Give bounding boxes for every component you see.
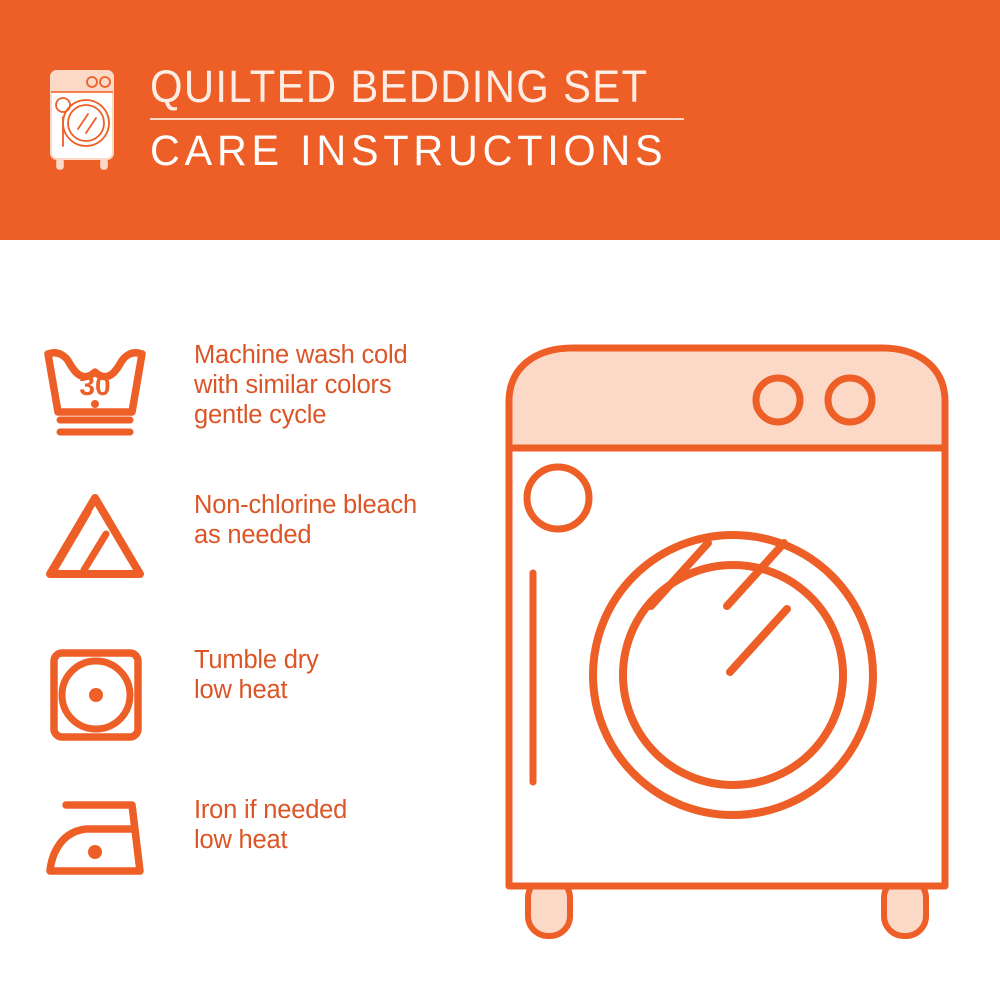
control-panel [513, 352, 942, 449]
washing-machine-illustration [495, 330, 965, 940]
page-subtitle: CARE INSTRUCTIONS [150, 127, 667, 175]
header-title-group: QUILTED BEDDING SET CARE INSTRUCTIONS [150, 62, 689, 175]
care-symbol-bleach [40, 490, 180, 585]
tumble-dry-icon [40, 645, 150, 745]
care-row-machine-wash: 30 Machine wash cold with similar colors… [40, 340, 480, 440]
care-text-machine-wash: Machine wash cold with similar colors ge… [194, 340, 407, 430]
care-row-iron: Iron if needed low heat [40, 795, 480, 881]
iron-dot [88, 845, 102, 859]
care-instruction-list: 30 Machine wash cold with similar colors… [0, 240, 480, 1000]
care-text-iron: Iron if needed low heat [194, 795, 347, 855]
iron-icon [40, 795, 152, 881]
care-row-tumble-dry: Tumble dry low heat [40, 645, 480, 745]
title-divider [150, 118, 684, 120]
header-content: QUILTED BEDDING SET CARE INSTRUCTIONS [42, 62, 689, 175]
washing-machine-icon [42, 66, 128, 174]
care-symbol-iron [40, 795, 180, 881]
wash-dot [91, 400, 99, 408]
tumble-dry-dot [89, 688, 103, 702]
care-text-tumble-dry: Tumble dry low heat [194, 645, 319, 705]
care-symbol-tumble-dry [40, 645, 180, 745]
wash-temperature-label: 30 [79, 370, 110, 401]
page-header: QUILTED BEDDING SET CARE INSTRUCTIONS [0, 0, 1000, 240]
care-row-bleach: Non-chlorine bleach as needed [40, 490, 480, 585]
non-chlorine-bleach-triangle-icon [40, 490, 150, 585]
page-title: QUILTED BEDDING SET [150, 62, 651, 112]
care-text-bleach: Non-chlorine bleach as needed [194, 490, 417, 550]
care-symbol-machine-wash: 30 [40, 340, 180, 440]
machine-wash-basin-icon: 30 [40, 340, 150, 440]
